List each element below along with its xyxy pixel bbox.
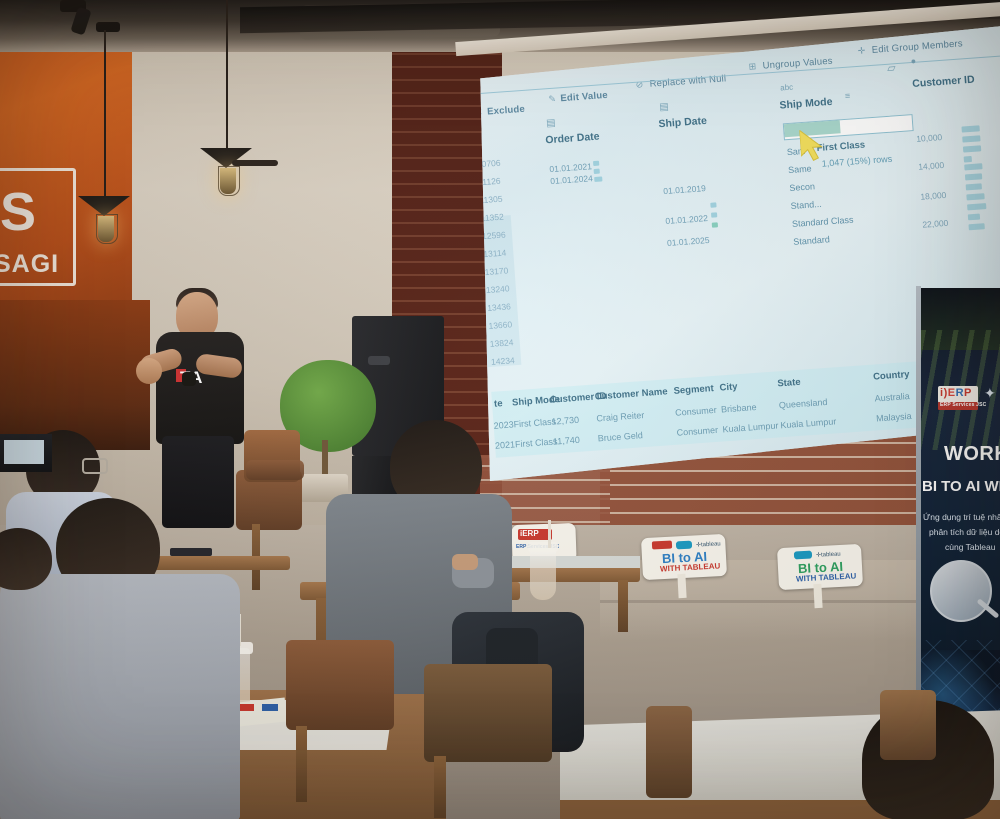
toolbar-edit-value[interactable]: Edit Value: [560, 90, 608, 104]
sign-1-salesforce-logo: [676, 541, 692, 550]
banner-brand-sub: ERP Services JSC: [940, 402, 986, 408]
chair: [286, 640, 394, 730]
field-ship-date[interactable]: Ship Date: [658, 115, 707, 130]
col-header-city[interactable]: City: [719, 381, 738, 393]
table-sign-1-stick: [677, 574, 686, 598]
ship-mode-value-5[interactable]: Standard Class: [792, 215, 854, 229]
cell: 12,730: [551, 415, 579, 427]
row-id: 14234: [491, 355, 515, 367]
row-id: 12596: [482, 229, 506, 241]
edit-group-icon[interactable]: ✛: [857, 45, 865, 57]
ship-mode-value-3[interactable]: Secon: [789, 181, 815, 193]
calendar-icon-ship-date: ▤: [659, 102, 669, 114]
order-date-bar-2: [594, 176, 602, 182]
cell: 2021: [495, 439, 516, 450]
calendar-icon-order-date: ▤: [546, 118, 556, 130]
sign-1-ierp-logo: [652, 540, 672, 549]
track-light-base-2: [96, 22, 120, 32]
presenter-hands: [136, 358, 162, 384]
venue-logo-text: SAGI: [0, 250, 59, 279]
brand-wall-lower: [0, 300, 150, 450]
abc-icon-ship-mode: abc: [780, 83, 794, 93]
customer-id-bar: [964, 156, 972, 163]
col-header-state[interactable]: State: [777, 377, 801, 390]
row-id: 13114: [483, 247, 507, 259]
drink-lid: [528, 542, 558, 552]
customer-id-bar: [963, 145, 981, 152]
order-date-bar-0: [593, 161, 599, 166]
drink-cup: [530, 548, 556, 600]
napkin-logo-blue: [262, 704, 278, 711]
ship-mode-value-4[interactable]: Stand...: [790, 199, 822, 211]
napkin-logo-red: [240, 704, 254, 711]
customer-id-bar: [966, 183, 982, 190]
speaker-handle: [368, 356, 390, 365]
ship-date-tick-0: 01.01.2019: [663, 183, 706, 196]
napkin: [237, 698, 287, 727]
field-order-date[interactable]: Order Date: [545, 131, 600, 147]
pendant-shade-1: [78, 196, 130, 216]
table-sign-2-stick: [813, 584, 822, 608]
chair-leg: [296, 726, 307, 802]
customer-id-bar: [968, 214, 980, 221]
ship-date-bar-0: [710, 202, 716, 207]
table-leg: [618, 580, 628, 632]
sign-2-salesforce-logo: [794, 551, 812, 560]
row-id: 13660: [488, 319, 512, 331]
ship-date-bar-1: [711, 212, 717, 217]
chair: [246, 460, 304, 480]
banner-body-line-1: Ứng dụng trí tuệ nhân: [923, 512, 1000, 522]
row-id: 11352: [480, 212, 504, 224]
banner-pole: [916, 286, 921, 698]
ungroup-icon[interactable]: ⊞: [748, 61, 756, 73]
customer-id-bar: [962, 135, 980, 142]
customer-id-bar: [968, 223, 984, 230]
customer-id-bar: [966, 193, 984, 200]
edit-field-icon[interactable]: ▱: [887, 61, 896, 75]
presenter-legs: [162, 436, 234, 528]
order-date-tick-0: 01.01.2021: [549, 161, 592, 174]
pendant-cord-2: [226, 0, 228, 150]
row-id: 13240: [486, 283, 510, 295]
row-id: 13436: [487, 301, 511, 313]
wall-sconce-arm: [232, 160, 278, 166]
customer-id-tick-0: 10,000: [916, 132, 943, 144]
row-id: 13170: [484, 265, 508, 277]
pendant-bulb-1: [98, 216, 114, 242]
attendee-body: [0, 574, 240, 819]
chair: [646, 706, 692, 798]
attendee-glasses: [82, 458, 108, 474]
customer-id-tick-2: 18,000: [920, 190, 947, 202]
laptop-screen: [4, 440, 44, 464]
more-options-icon[interactable]: ●: [910, 56, 916, 66]
customer-id-bar: [964, 163, 982, 170]
toolbar-edit-group[interactable]: Edit Group Members: [871, 38, 963, 55]
banner-body-line-3: cùng Tableau: [945, 542, 995, 552]
chair-leg: [434, 756, 446, 818]
pendant-bulb-2: [220, 168, 236, 194]
venue-logo-mark: S: [0, 182, 56, 244]
pendant-cord-1: [104, 30, 106, 198]
row-id: 13824: [489, 337, 513, 349]
banner-brand-text: i)ERP: [940, 387, 972, 399]
ship-date-bar-2: [712, 222, 718, 227]
photo-scene: S SAGI ✕ Exclude ✎ Edit Value ⊘ Replace …: [0, 0, 1000, 819]
order-date-tick-1: 01.01.2024: [550, 173, 593, 186]
ship-date-tick-1: 01.01.2022: [665, 213, 708, 226]
banner-network-icon: ✦: [984, 386, 998, 400]
customer-id-tick-1: 14,000: [918, 160, 945, 172]
phone-on-table: [170, 548, 212, 556]
customer-id-bar: [967, 203, 986, 210]
order-date-bar-1: [594, 169, 600, 174]
field-ship-mode[interactable]: Ship Mode: [779, 96, 833, 112]
ship-mode-value-6[interactable]: Standard: [793, 234, 830, 247]
chair: [880, 690, 936, 760]
ship-mode-value-2[interactable]: Same: [788, 163, 812, 175]
toolbar-exclude[interactable]: Exclude: [487, 104, 526, 118]
col-header-date[interactable]: te: [494, 398, 503, 410]
presenter-watch: [182, 372, 196, 386]
field-customer-id[interactable]: Customer ID: [912, 74, 975, 90]
edit-value-icon[interactable]: ✎: [548, 94, 556, 106]
table-sign-3-line1: iERP: [520, 529, 539, 538]
attendee-hand: [452, 554, 478, 570]
drink-straw: [548, 520, 551, 548]
sort-icon[interactable]: ≡: [845, 91, 851, 101]
banner-body-line-2: phân tích dữ liệu do: [929, 527, 1000, 537]
chair: [424, 664, 552, 762]
banner-magnifier-icon: [930, 560, 992, 622]
customer-id-bar: [961, 125, 979, 132]
cell: 2023: [493, 419, 514, 430]
customer-id-bar: [965, 173, 982, 180]
ship-date-tick-2: 01.01.2025: [667, 235, 710, 248]
tooltip-detail: 1,047 (15%) rows: [821, 154, 892, 169]
customer-id-tick-3: 22,000: [922, 218, 949, 230]
banner-subhead: BI TO AI WITH: [922, 478, 1000, 495]
banner-headline: WORKSHOP: [944, 443, 1000, 466]
cell: 11,740: [553, 435, 581, 447]
